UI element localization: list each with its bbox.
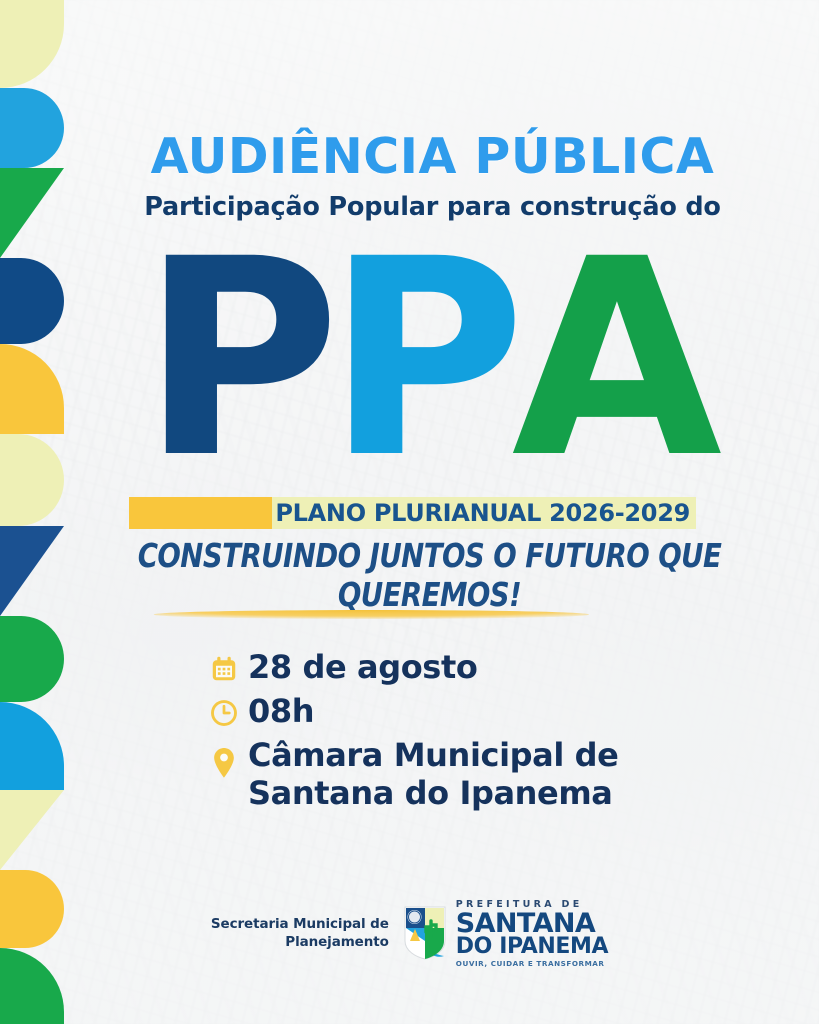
ppa-letter-p-navy: P bbox=[141, 228, 326, 493]
stripe-block-7 bbox=[0, 616, 64, 702]
clock-icon bbox=[200, 692, 248, 728]
calendar-icon bbox=[200, 648, 248, 684]
event-details: 28 de agosto 08h Câmara Municipal de San… bbox=[200, 648, 760, 818]
detail-row-date: 28 de agosto bbox=[200, 648, 760, 686]
detail-time-text: 08h bbox=[248, 692, 314, 730]
ppa-wordmark: PPA bbox=[0, 228, 819, 493]
stripe-block-8 bbox=[0, 702, 64, 790]
tagline: CONSTRUINDO JUNTOS O FUTURO QUE QUEREMOS… bbox=[67, 536, 791, 614]
stripe-block-9 bbox=[0, 790, 64, 870]
detail-date-text: 28 de agosto bbox=[248, 648, 477, 686]
plan-banner: PLANO PLURIANUAL 2026-2029 bbox=[129, 497, 696, 529]
tagline-container: CONSTRUINDO JUNTOS O FUTURO QUE QUEREMOS… bbox=[0, 536, 819, 614]
footer: Secretaria Municipal de Planejamento PRE… bbox=[0, 900, 819, 967]
poster-canvas: AUDIÊNCIA PÚBLICA Participação Popular p… bbox=[0, 0, 819, 1024]
secretariat-line-1: Secretaria Municipal de bbox=[211, 915, 389, 933]
ppa-letter-p-blue: P bbox=[326, 228, 511, 493]
tagline-swoosh-underline bbox=[154, 610, 589, 619]
detail-location-line1: Câmara Municipal de bbox=[248, 736, 618, 774]
secretariat-line-2: Planejamento bbox=[211, 933, 389, 951]
city-coat-of-arms-icon bbox=[403, 905, 447, 961]
stripe-block-0 bbox=[0, 0, 64, 88]
secretariat-label: Secretaria Municipal de Planejamento bbox=[211, 915, 389, 951]
prefecture-name-second-line: DO IPANEMA bbox=[456, 936, 608, 958]
detail-row-location: Câmara Municipal de Santana do Ipanema bbox=[200, 736, 760, 812]
prefecture-slogan: OUVIR, CUIDAR E TRANSFORMAR bbox=[456, 960, 608, 967]
location-pin-icon bbox=[200, 736, 248, 780]
detail-row-time: 08h bbox=[200, 692, 760, 730]
prefecture-name: SANTANA bbox=[456, 911, 608, 936]
banner-label: PLANO PLURIANUAL 2026-2029 bbox=[129, 497, 696, 529]
detail-location-line2: Santana do Ipanema bbox=[248, 774, 618, 812]
detail-location-text: Câmara Municipal de Santana do Ipanema bbox=[248, 736, 618, 812]
page-title: AUDIÊNCIA PÚBLICA bbox=[0, 128, 819, 185]
ppa-letter-a-green: A bbox=[512, 228, 719, 493]
tagline-text: CONSTRUINDO JUNTOS O FUTURO QUE QUEREMOS… bbox=[138, 536, 722, 614]
prefecture-logo: PREFEITURA DE SANTANA DO IPANEMA OUVIR, … bbox=[456, 900, 608, 967]
